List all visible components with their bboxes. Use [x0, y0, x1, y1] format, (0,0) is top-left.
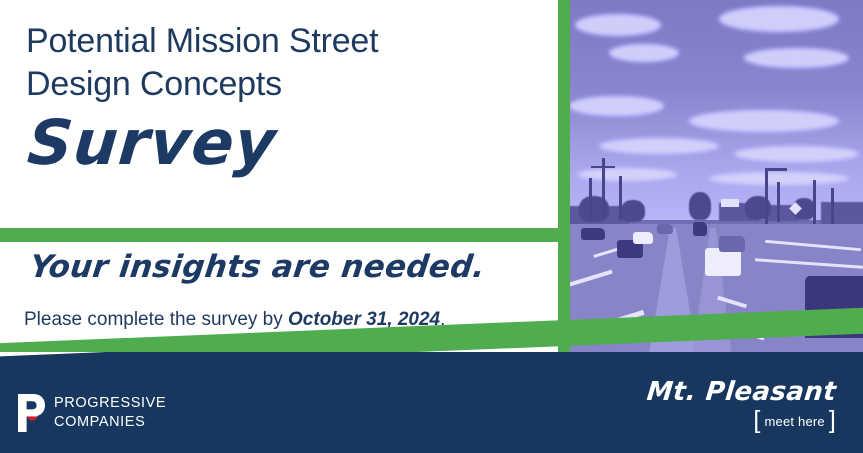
green-divider: [0, 228, 560, 242]
utility-pole: [831, 188, 834, 224]
cloud: [575, 14, 661, 36]
mt-pleasant-logo[interactable]: Mt. Pleasant [ meet here ]: [647, 379, 836, 434]
cloud: [719, 6, 839, 32]
bracket-close: ]: [829, 411, 836, 431]
utility-pole: [619, 176, 622, 220]
vehicle: [581, 228, 605, 240]
roadside-sign: [721, 199, 739, 207]
tree: [689, 192, 711, 220]
progressive-companies-logo[interactable]: PROGRESSIVE COMPANIES: [18, 394, 166, 432]
street-light-arm: [765, 168, 787, 171]
progressive-p-mark-icon: [18, 394, 45, 432]
logo-name-line-1: PROGRESSIVE: [54, 394, 166, 413]
cloud: [599, 138, 719, 154]
photo-green-stripe: [558, 0, 570, 366]
deadline-prefix: Please complete the survey by: [24, 309, 288, 330]
vehicle: [693, 222, 707, 236]
cloud: [744, 48, 849, 68]
vehicle: [633, 232, 653, 244]
cloud: [569, 96, 664, 116]
headline-line-2: Design Concepts: [26, 63, 546, 106]
vehicle-white-car: [705, 248, 741, 276]
utility-pole-crossarm: [591, 166, 615, 168]
survey-poster: Potential Mission Street Design Concepts…: [0, 0, 863, 453]
utility-pole: [777, 182, 780, 222]
tagline-script: Your insights are needed.: [28, 252, 487, 283]
street-light-pole: [765, 168, 768, 224]
vehicle: [657, 224, 673, 234]
footer-top-wedge: [0, 352, 863, 358]
survey-script-word: Survey: [25, 112, 279, 174]
cloud: [734, 146, 859, 162]
headline-line-1: Potential Mission Street: [26, 20, 546, 63]
utility-pole: [813, 180, 816, 224]
mt-pleasant-tagline: [ meet here ]: [753, 412, 836, 432]
mt-pleasant-name: Mt. Pleasant: [645, 379, 837, 405]
page-title: Potential Mission Street Design Concepts: [26, 20, 546, 106]
vehicle: [719, 236, 745, 252]
progressive-companies-wordmark: PROGRESSIVE COMPANIES: [54, 394, 166, 431]
bracket-open: [: [753, 411, 760, 431]
meet-here-text: meet here: [765, 415, 825, 428]
roadside-building: [821, 202, 863, 224]
tree: [621, 200, 645, 222]
utility-pole: [589, 178, 592, 218]
cloud: [689, 110, 839, 132]
logo-name-line-2: COMPANIES: [54, 413, 166, 432]
cloud: [577, 168, 677, 181]
cloud: [609, 44, 679, 62]
